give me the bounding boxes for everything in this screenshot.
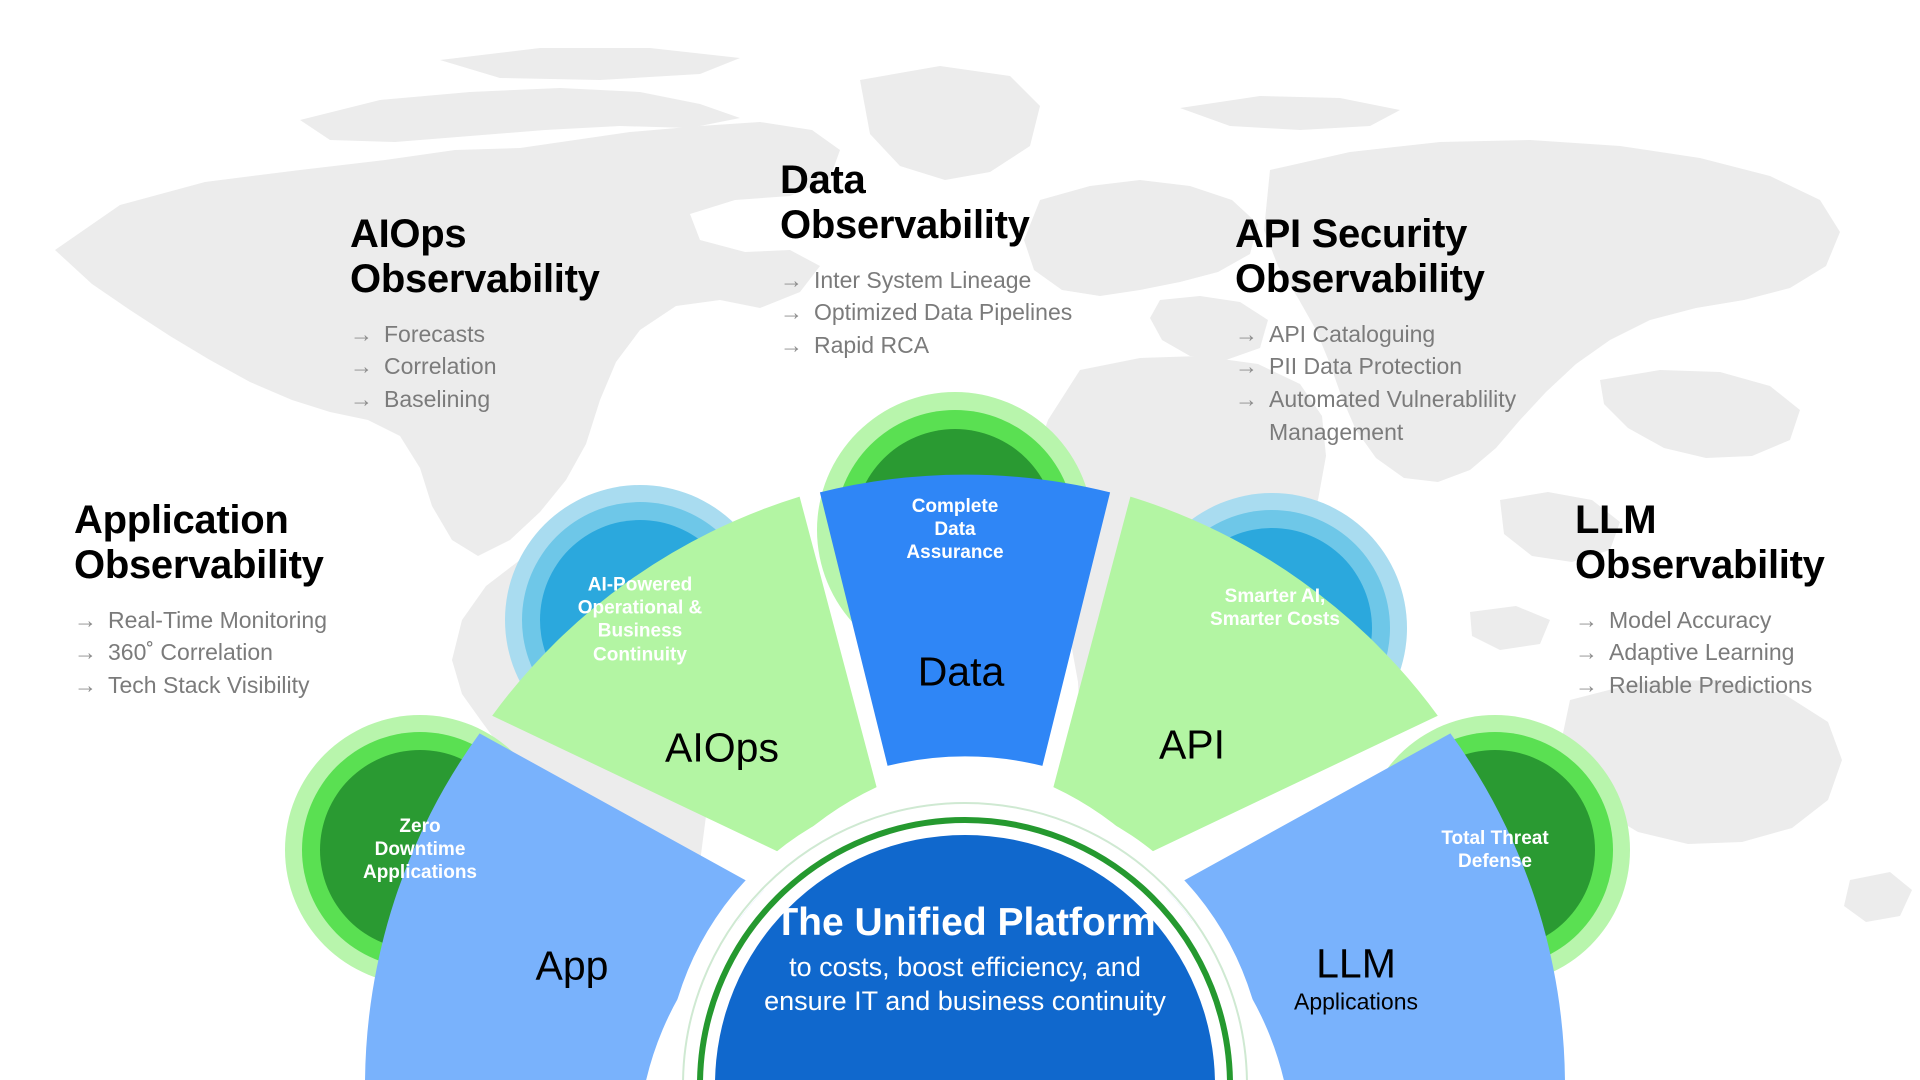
segment-data[interactable] bbox=[820, 475, 1110, 766]
list-item: →Model Accuracy bbox=[1575, 604, 1905, 637]
arrow-icon: → bbox=[780, 329, 803, 362]
aiops-observability-title: AIOps Observability bbox=[350, 212, 680, 302]
list-item-label: PII Data Protection bbox=[1269, 350, 1462, 383]
list-item: →Automated Vulnerablility Management bbox=[1235, 383, 1595, 449]
list-item-label: Optimized Data Pipelines bbox=[814, 296, 1072, 329]
text-block-aiops-observability: AIOps Observability →Forecasts →Correlat… bbox=[350, 212, 680, 416]
data-observability-list: →Inter System Lineage →Optimized Data Pi… bbox=[780, 264, 1140, 363]
list-item: →Correlation bbox=[350, 350, 680, 383]
arrow-icon: → bbox=[780, 264, 803, 297]
list-item-label: Tech Stack Visibility bbox=[108, 669, 310, 702]
list-item-label: API Cataloguing bbox=[1269, 318, 1435, 351]
data-observability-title: Data Observability bbox=[780, 158, 1140, 248]
text-block-application-observability: Application Observability →Real-Time Mon… bbox=[74, 498, 464, 702]
arrow-icon: → bbox=[1575, 604, 1598, 637]
arrow-icon: → bbox=[74, 636, 97, 669]
application-observability-title: Application Observability bbox=[74, 498, 464, 588]
list-item: →PII Data Protection bbox=[1235, 350, 1595, 383]
list-item-label: Inter System Lineage bbox=[814, 264, 1031, 297]
arrow-icon: → bbox=[74, 604, 97, 637]
list-item: →360˚ Correlation bbox=[74, 636, 464, 669]
text-block-api-security-observability: API Security Observability →API Catalogu… bbox=[1235, 212, 1595, 449]
list-item-label: Reliable Predictions bbox=[1609, 669, 1812, 702]
application-observability-list: →Real-Time Monitoring →360˚ Correlation … bbox=[74, 604, 464, 703]
aiops-observability-list: →Forecasts →Correlation →Baselining bbox=[350, 318, 680, 417]
arrow-icon: → bbox=[74, 669, 97, 702]
list-item: →Forecasts bbox=[350, 318, 680, 351]
infographic-canvas: App AIOps Data API LLM Applications Zero… bbox=[0, 0, 1920, 1080]
arrow-icon: → bbox=[1235, 350, 1258, 383]
arrow-icon: → bbox=[1575, 669, 1598, 702]
list-item-label: Baselining bbox=[384, 383, 490, 416]
api-security-observability-list: →API Cataloguing →PII Data Protection →A… bbox=[1235, 318, 1595, 450]
text-block-llm-observability: LLM Observability →Model Accuracy →Adapt… bbox=[1575, 498, 1905, 702]
list-item-label: Adaptive Learning bbox=[1609, 636, 1794, 669]
list-item: →Rapid RCA bbox=[780, 329, 1140, 362]
list-item: →Tech Stack Visibility bbox=[74, 669, 464, 702]
list-item-label: Forecasts bbox=[384, 318, 485, 351]
list-item-label: 360˚ Correlation bbox=[108, 636, 273, 669]
list-item-label: Rapid RCA bbox=[814, 329, 929, 362]
arrow-icon: → bbox=[350, 350, 373, 383]
arrow-icon: → bbox=[1235, 383, 1258, 416]
llm-observability-title: LLM Observability bbox=[1575, 498, 1905, 588]
arrow-icon: → bbox=[1235, 318, 1258, 351]
arrow-icon: → bbox=[350, 383, 373, 416]
list-item: →Reliable Predictions bbox=[1575, 669, 1905, 702]
llm-observability-list: →Model Accuracy →Adaptive Learning →Reli… bbox=[1575, 604, 1905, 703]
list-item-label: Real-Time Monitoring bbox=[108, 604, 327, 637]
list-item: →API Cataloguing bbox=[1235, 318, 1595, 351]
list-item-label: Correlation bbox=[384, 350, 497, 383]
api-security-observability-title: API Security Observability bbox=[1235, 212, 1595, 302]
arrow-icon: → bbox=[1575, 636, 1598, 669]
list-item: →Inter System Lineage bbox=[780, 264, 1140, 297]
list-item: →Adaptive Learning bbox=[1575, 636, 1905, 669]
arrow-icon: → bbox=[350, 318, 373, 351]
list-item: →Optimized Data Pipelines bbox=[780, 296, 1140, 329]
text-block-data-observability: Data Observability →Inter System Lineage… bbox=[780, 158, 1140, 362]
list-item: →Baselining bbox=[350, 383, 680, 416]
list-item-label: Model Accuracy bbox=[1609, 604, 1771, 637]
arrow-icon: → bbox=[780, 296, 803, 329]
list-item: →Real-Time Monitoring bbox=[74, 604, 464, 637]
list-item-label: Automated Vulnerablility Management bbox=[1269, 383, 1595, 449]
